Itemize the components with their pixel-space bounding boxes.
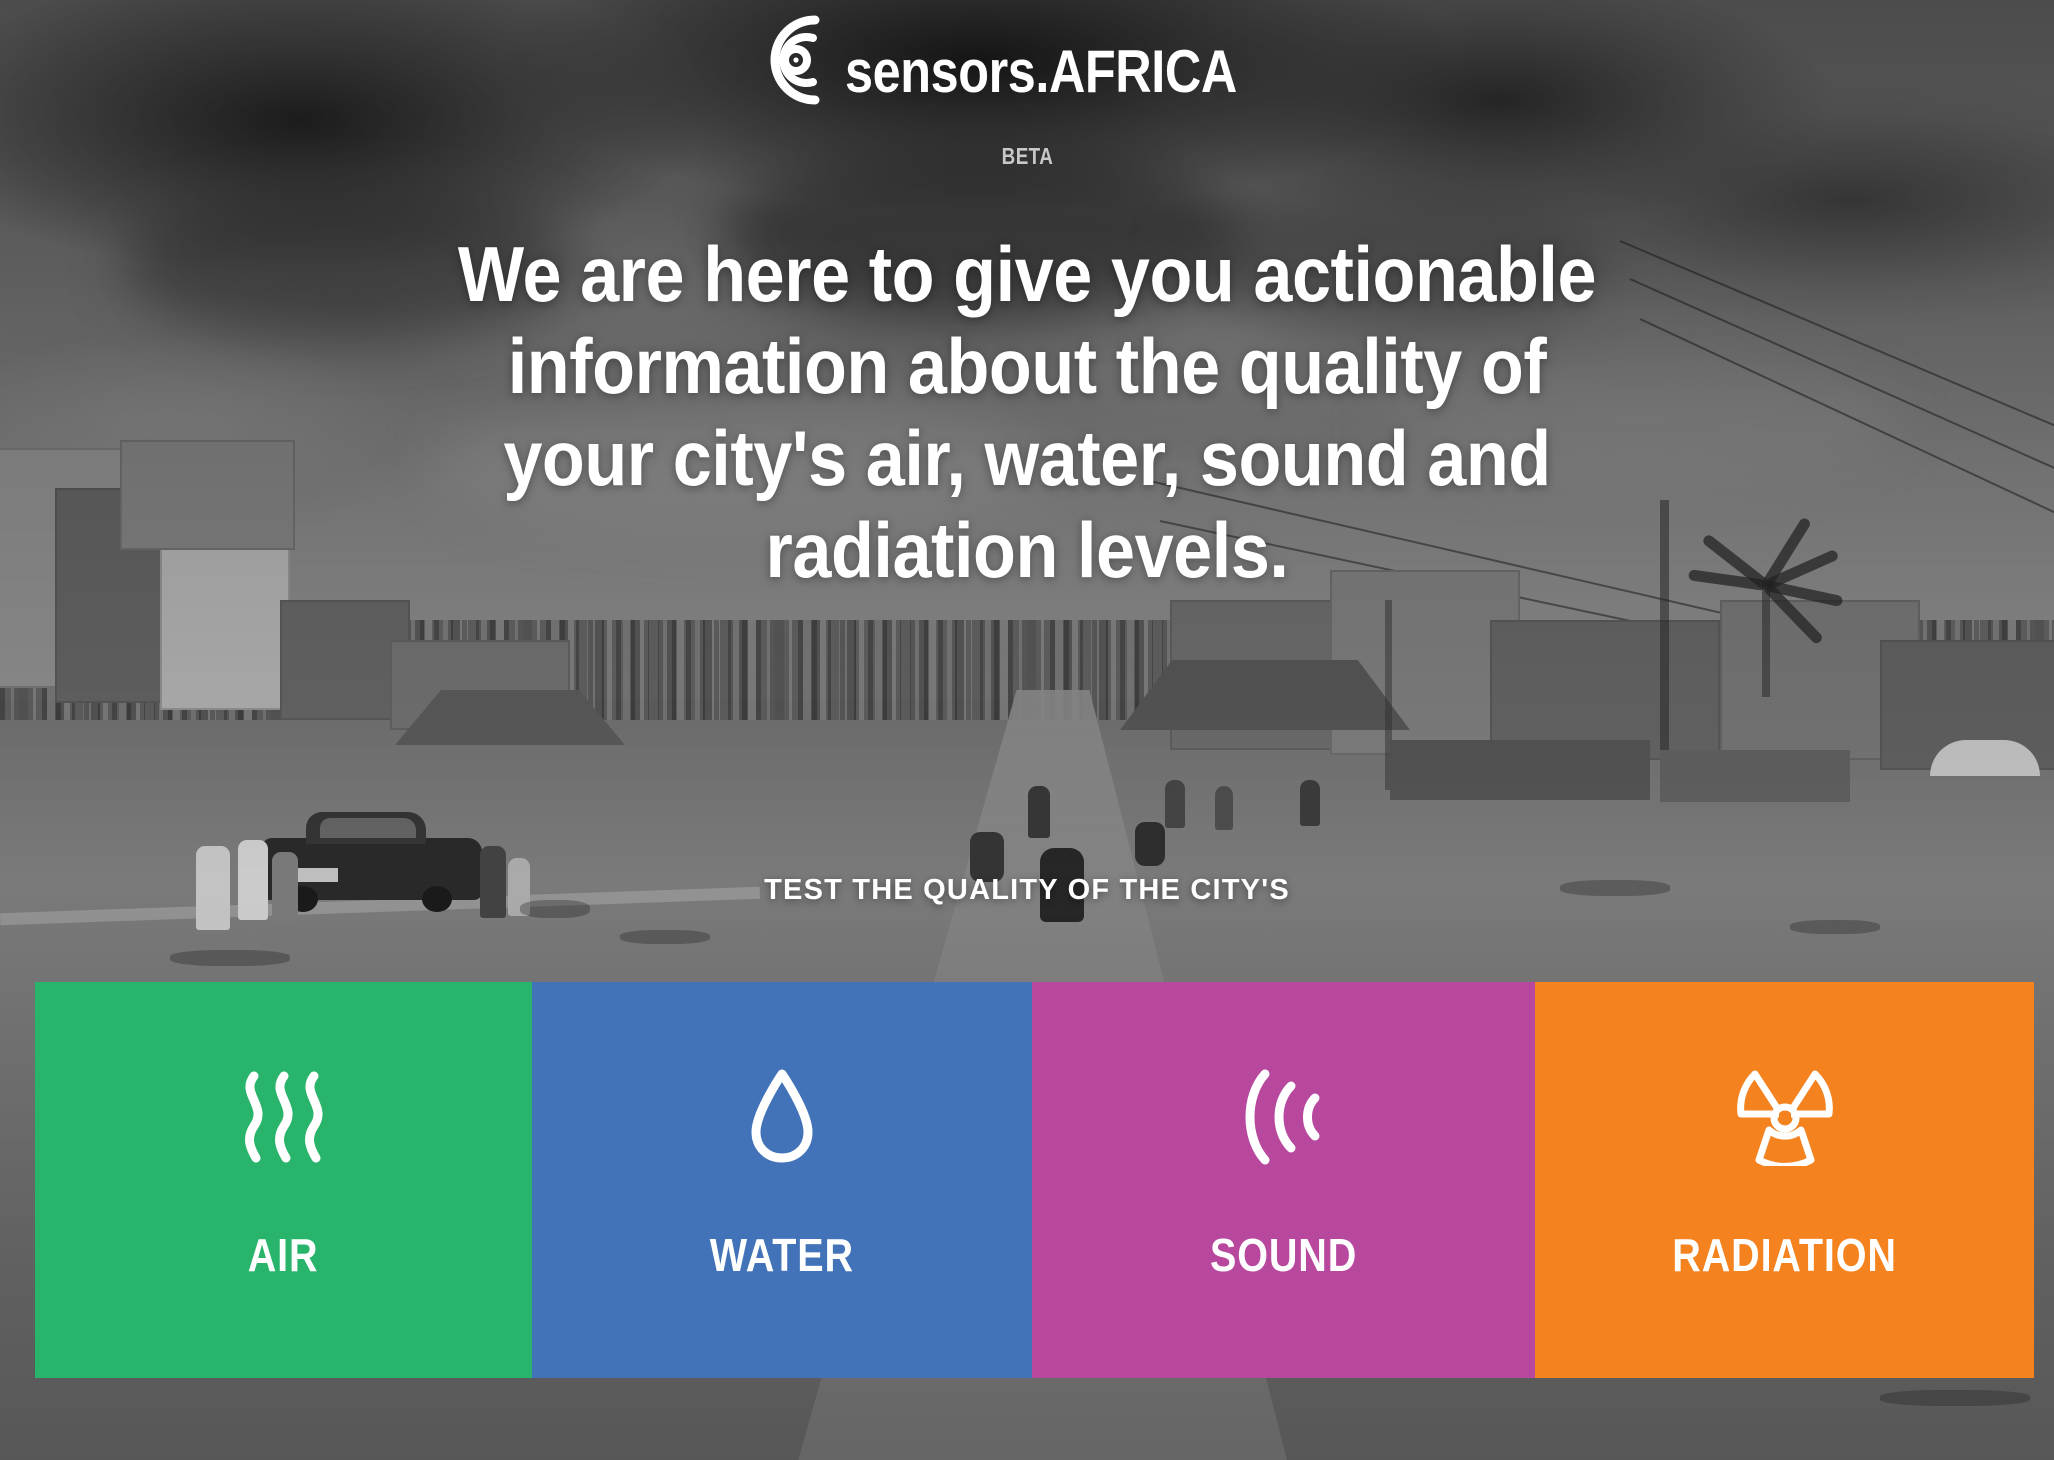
logo-row[interactable]: sensors.AFRICA [743, 4, 1311, 121]
tile-water-label: WATER [710, 1228, 854, 1282]
hero-section: sensors.AFRICA BETA We are here to give … [0, 0, 2054, 1460]
sound-waves-icon [1241, 1068, 1327, 1166]
tile-radiation[interactable]: RADIATION [1535, 982, 2034, 1378]
tile-sound-label: SOUND [1210, 1228, 1357, 1282]
tile-sound[interactable]: SOUND [1032, 982, 1535, 1378]
page-headline-text: We are here to give you actionable infor… [447, 228, 1608, 596]
air-waves-icon [236, 1068, 332, 1166]
category-tiles: AIR WATER [35, 982, 2034, 1378]
tile-air[interactable]: AIR [35, 982, 532, 1378]
water-drop-icon [747, 1068, 817, 1166]
concentric-signal-icon [743, 4, 839, 121]
hero-content: sensors.AFRICA BETA We are here to give … [0, 0, 2054, 1460]
page-headline: We are here to give you actionable infor… [382, 228, 1672, 596]
logo-wordmark: sensors.AFRICA [845, 42, 1237, 102]
tile-radiation-label: RADIATION [1672, 1228, 1897, 1282]
radiation-trefoil-icon [1733, 1068, 1837, 1166]
sub-heading: TEST THE QUALITY OF THE CITY'S [0, 874, 2054, 907]
tile-air-label: AIR [248, 1228, 319, 1282]
site-logo[interactable]: sensors.AFRICA BETA [0, 4, 2054, 170]
tile-water[interactable]: WATER [532, 982, 1032, 1378]
beta-badge: BETA [1001, 143, 1053, 170]
